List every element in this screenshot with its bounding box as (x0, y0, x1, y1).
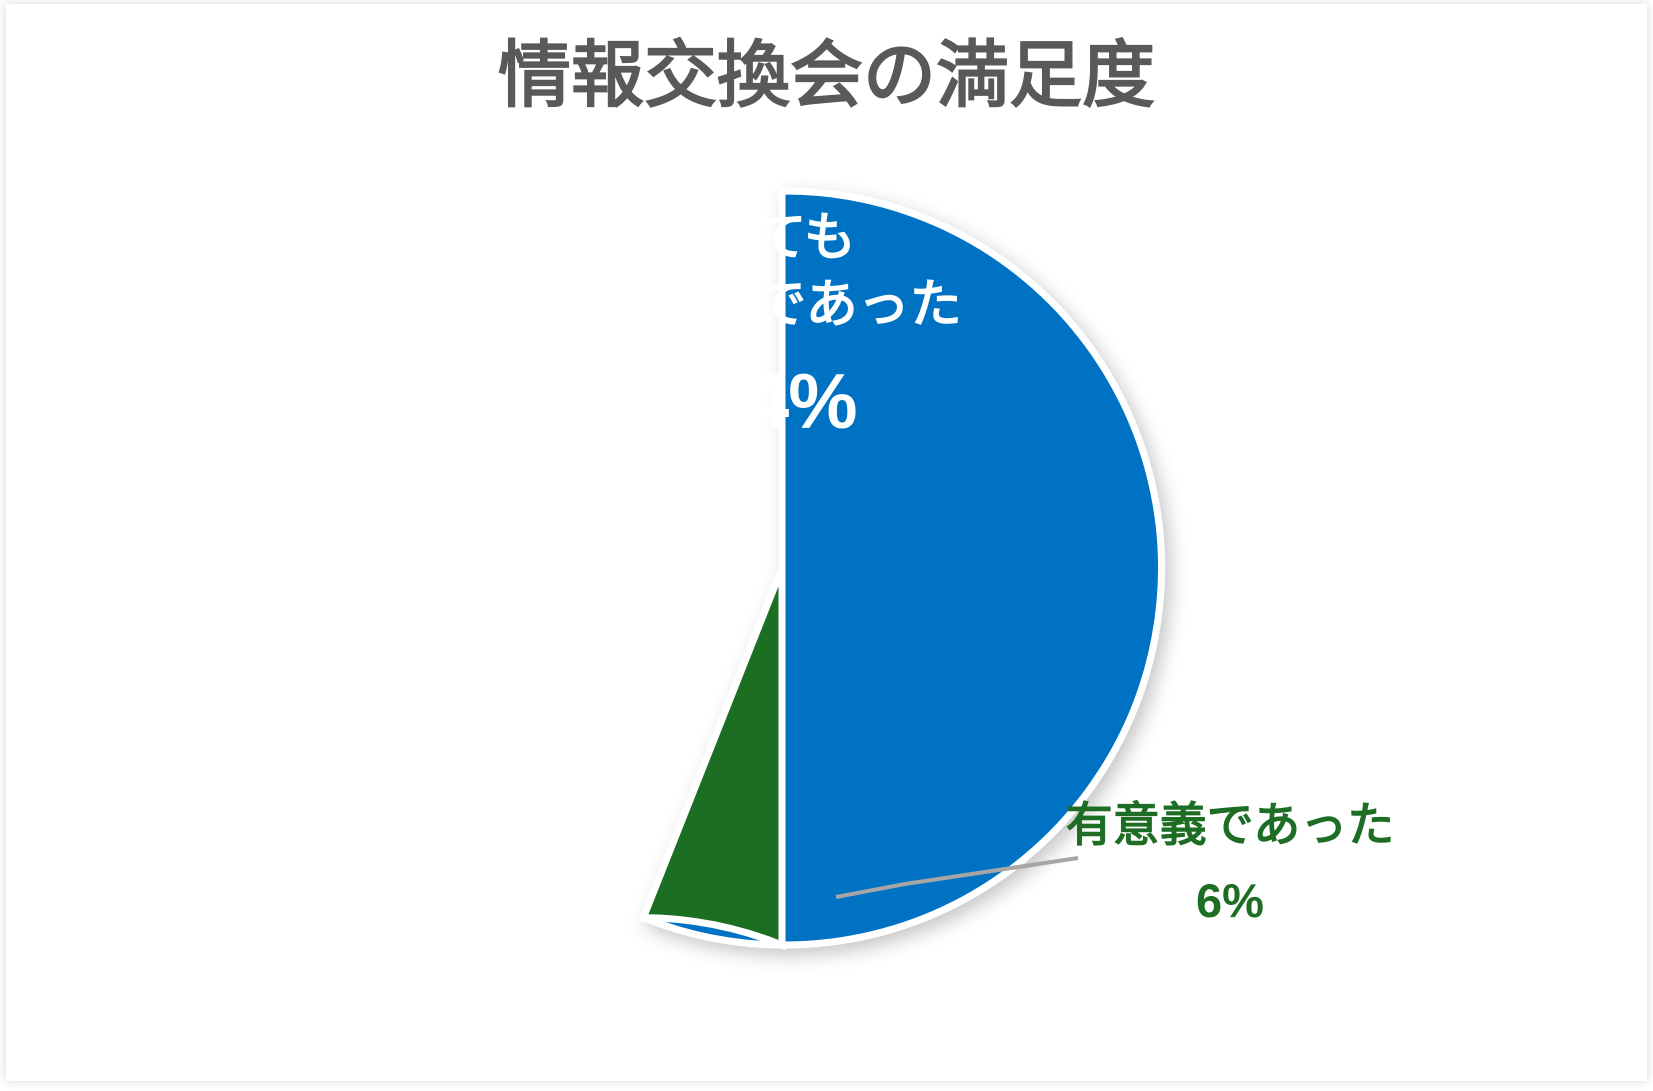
pie-slice-satisfied[interactable] (643, 568, 782, 945)
slide-canvas: 情報交換会の満足度 とても 有意義であった 94% 有意義であった (0, 0, 1653, 1091)
data-label-satisfied-percent: 6% (1020, 871, 1440, 931)
data-label-very-satisfied-line1: とても (704, 209, 856, 267)
data-label-satisfied-line1: 有意義であった (1066, 798, 1395, 851)
data-label-very-satisfied-percent: 94% (470, 352, 1090, 452)
data-label-satisfied: 有意義であった 6% (1020, 795, 1440, 931)
data-label-very-satisfied: とても 有意義であった 94% (470, 205, 1090, 452)
data-label-very-satisfied-line2: 有意義であった (598, 276, 961, 334)
pie-chart: 情報交換会の満足度 とても 有意義であった 94% 有意義であった (0, 0, 1653, 1091)
